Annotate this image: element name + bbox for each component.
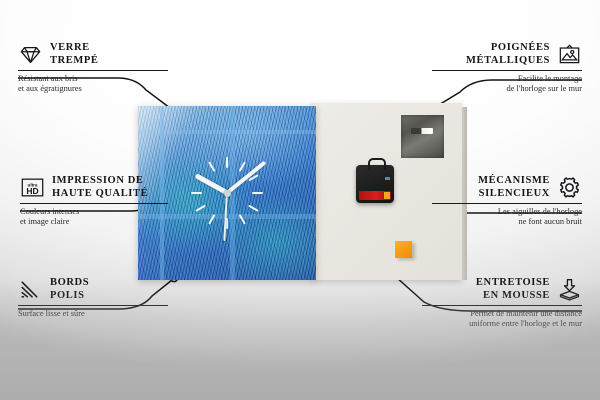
- diamond-icon: [18, 42, 43, 67]
- callout-titles: IMPRESSION DE HAUTE QUALITÉ: [52, 175, 148, 200]
- callout-subtitle-line-1: Permet de maintenir une distance: [422, 309, 582, 319]
- callout-title-line-1: MÉCANISME: [478, 175, 550, 187]
- callout-title-line-1: ENTRETOISE: [476, 277, 550, 289]
- callout-title-line-2: EN MOUSSE: [483, 290, 550, 302]
- callout-mecanisme-silencieux: MÉCANISME SILENCIEUX Les aiguilles de l'…: [432, 175, 582, 227]
- callout-poignees-metalliques: POIGNÉES MÉTALLIQUES Facilite le montage…: [432, 42, 582, 94]
- callout-subtitle-line-2: et image claire: [20, 217, 170, 227]
- hands-pin: [224, 190, 231, 197]
- metal-hanger-plate: [401, 115, 444, 158]
- callout-subtitle-line-2: uniforme entre l'horloge et le mur: [422, 319, 582, 329]
- callout-rule: [432, 203, 582, 204]
- ultra-hd-icon-bottom: HD: [26, 186, 38, 196]
- polished-edges-icon: [18, 277, 43, 302]
- gear-icon: [557, 175, 582, 200]
- callout-titles: POIGNÉES MÉTALLIQUES: [466, 42, 550, 67]
- product-image: [138, 103, 462, 280]
- callout-verre-trempe: VERRE TREMPÉ Résistant aux bris et aux é…: [18, 42, 168, 94]
- ultra-hd-icon: ultra HD: [20, 175, 45, 200]
- callout-title-line-2: HAUTE QUALITÉ: [52, 188, 148, 200]
- callout-title-line-2: MÉTALLIQUES: [466, 55, 550, 67]
- callout-title-line-2: SILENCIEUX: [479, 188, 550, 200]
- callout-subtitle-line-1: Surface lisse et sûre: [18, 309, 168, 319]
- callout-subtitle-line-1: Couleurs intenses: [20, 207, 170, 217]
- callout-rule: [422, 305, 582, 306]
- clock-mechanism: [356, 165, 394, 203]
- callout-header: ENTRETOISE EN MOUSSE: [422, 277, 582, 302]
- foam-spacer: [395, 241, 412, 258]
- mechanism-label: [385, 177, 390, 180]
- callout-header: BORDS POLIS: [18, 277, 168, 302]
- callout-title-line-1: IMPRESSION DE: [52, 175, 144, 187]
- callout-subtitle-line-1: Résistant aux bris: [18, 74, 168, 84]
- callout-rule: [18, 305, 168, 306]
- callout-titles: BORDS POLIS: [50, 277, 89, 302]
- callout-impression-haute-qualite: ultra HD IMPRESSION DE HAUTE QUALITÉ Cou…: [20, 175, 170, 227]
- callout-rule: [18, 70, 168, 71]
- callout-subtitle-line-1: Facilite le montage: [432, 74, 582, 84]
- callout-titles: VERRE TREMPÉ: [50, 42, 99, 67]
- mechanism-hook: [368, 158, 386, 170]
- callout-title-line-2: TREMPÉ: [50, 55, 99, 67]
- callout-rule: [20, 203, 168, 204]
- callout-title-line-1: POIGNÉES: [491, 42, 550, 54]
- callout-titles: ENTRETOISE EN MOUSSE: [476, 277, 550, 302]
- callout-entretoise-en-mousse: ENTRETOISE EN MOUSSE Permet de maintenir…: [422, 277, 582, 329]
- callout-bords-polis: BORDS POLIS Surface lisse et sûre: [18, 277, 168, 319]
- callout-rule: [432, 70, 582, 71]
- callout-titles: MÉCANISME SILENCIEUX: [478, 175, 550, 200]
- infographic-canvas: VERRE TREMPÉ Résistant aux bris et aux é…: [0, 0, 600, 400]
- callout-title-line-1: VERRE: [50, 42, 90, 54]
- picture-hanger-icon: [557, 42, 582, 67]
- callout-subtitle-line-2: et aux égratignures: [18, 84, 168, 94]
- callout-subtitle-line-2: de l'horloge sur le mur: [432, 84, 582, 94]
- battery: [359, 191, 391, 200]
- callout-title-line-2: POLIS: [50, 290, 85, 302]
- callout-header: POIGNÉES MÉTALLIQUES: [432, 42, 582, 67]
- callout-title-line-1: BORDS: [50, 277, 89, 289]
- foam-spacer-icon: [557, 277, 582, 302]
- hanger-slot: [411, 128, 433, 134]
- callout-subtitle-line-2: ne font aucun bruit: [432, 217, 582, 227]
- callout-subtitle-line-1: Les aiguilles de l'horloge: [432, 207, 582, 217]
- callout-header: VERRE TREMPÉ: [18, 42, 168, 67]
- callout-header: MÉCANISME SILENCIEUX: [432, 175, 582, 200]
- callout-header: ultra HD IMPRESSION DE HAUTE QUALITÉ: [20, 175, 170, 200]
